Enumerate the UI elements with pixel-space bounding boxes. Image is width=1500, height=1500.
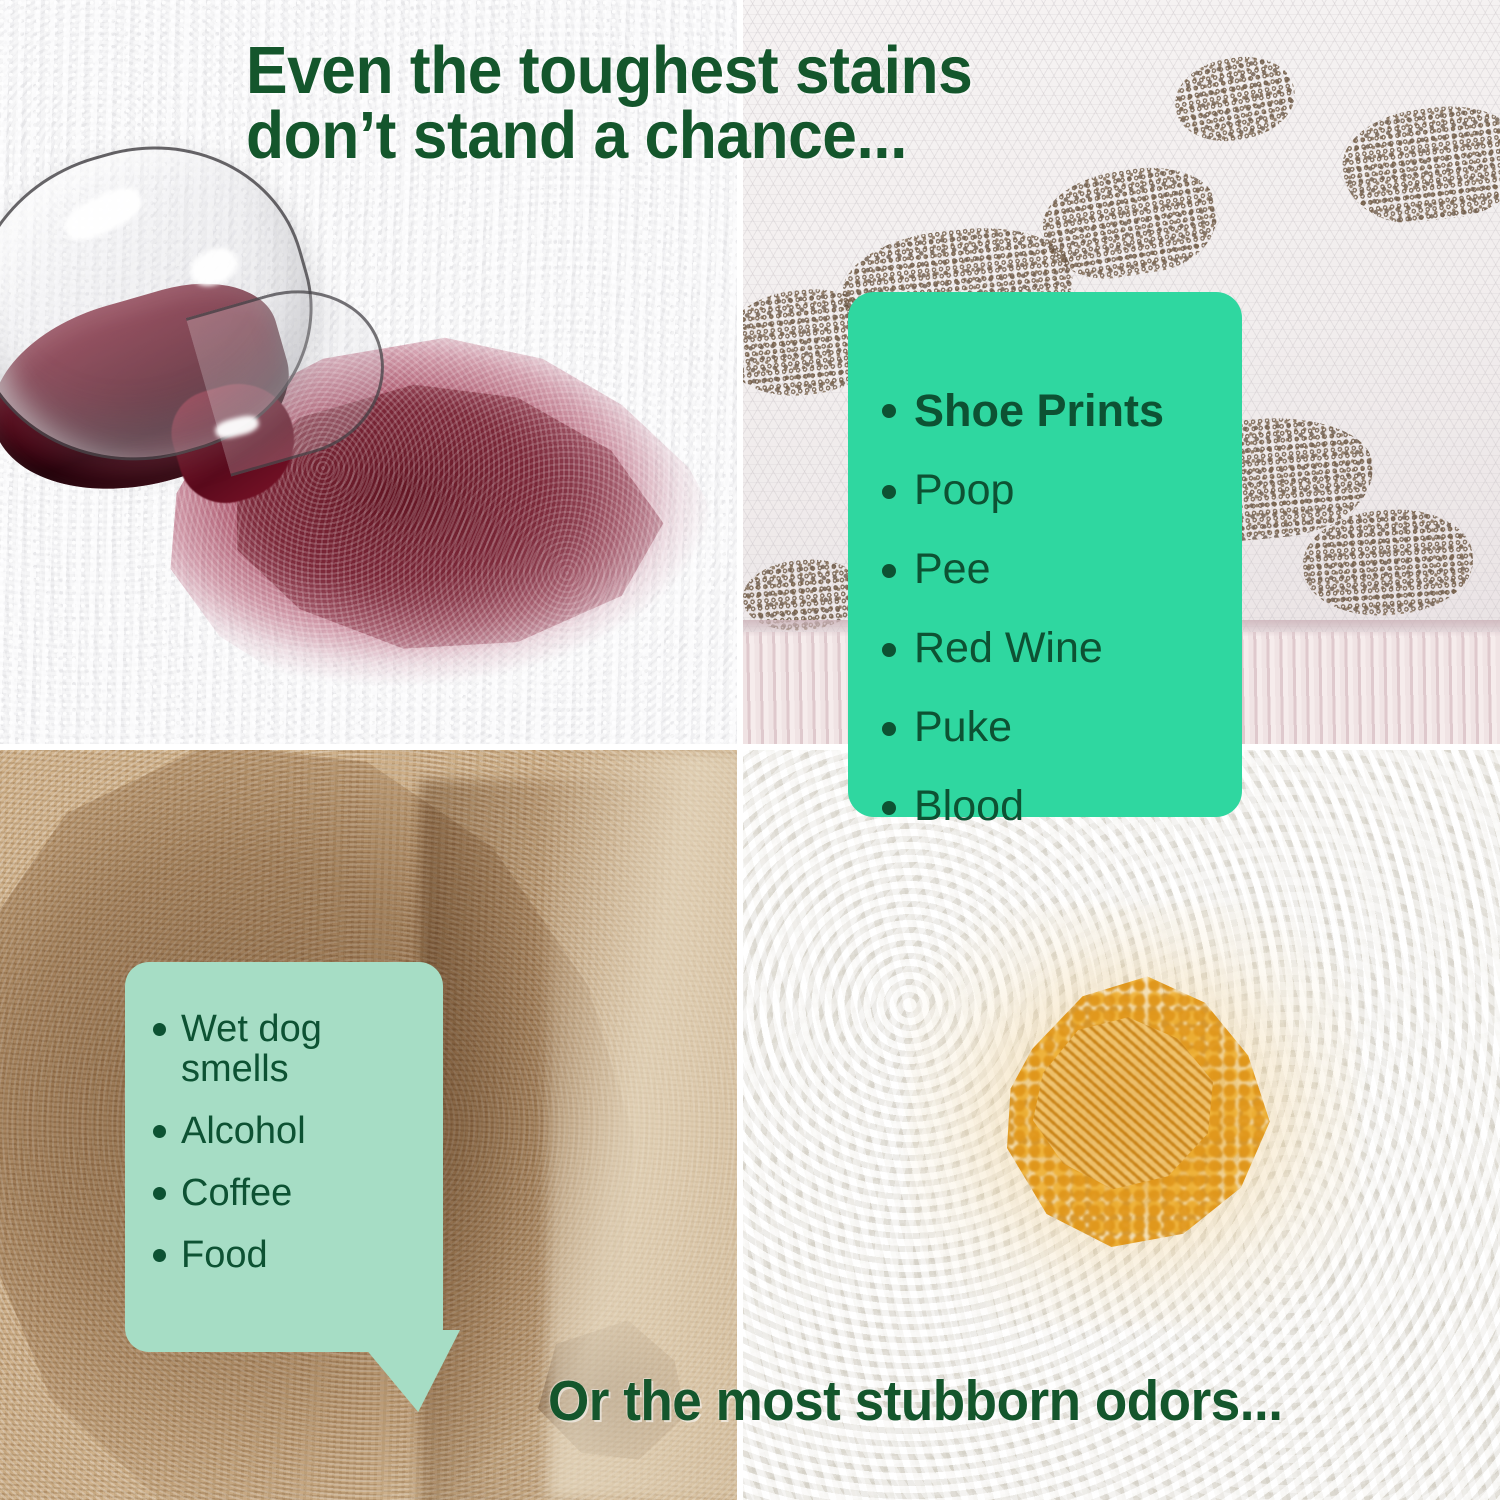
list-item-label: Alcohol [181,1112,306,1152]
headline-top: Even the toughest stains don’t stand a c… [246,38,972,168]
list-item: Blood [882,785,1242,828]
list-item-label: Pee [914,548,991,591]
list-item-label: Poop [914,469,1014,512]
list-item: Red Wine [882,627,1242,670]
headline-bottom: Or the most stubborn odors... [548,1374,1283,1429]
list-item: Coffee [153,1174,403,1214]
stain-list: Shoe Prints Poop Pee Red Wine Puke Blood [848,292,1242,828]
list-item-label: Blood [914,785,1024,828]
list-item-label: Shoe Prints [914,388,1164,433]
speech-bubble-odors: Wet dog smells Alcohol Coffee Food [125,962,443,1352]
bullet-icon [882,643,896,657]
list-item: Puke [882,706,1242,749]
list-item-label: Food [181,1236,268,1276]
list-item: Poop [882,469,1242,512]
bullet-icon [882,564,896,578]
list-item: Shoe Prints [882,388,1242,433]
infographic-canvas: Even the toughest stains don’t stand a c… [0,0,1500,1500]
list-item-label: Red Wine [914,627,1103,670]
list-item-label: Puke [914,706,1012,749]
bullet-icon [153,1023,166,1036]
speech-bubble-stains: Shoe Prints Poop Pee Red Wine Puke Blood [848,292,1242,817]
bullet-icon [153,1249,166,1262]
bullet-icon [882,485,896,499]
odor-list: Wet dog smells Alcohol Coffee Food [125,962,443,1275]
list-item: Alcohol [153,1112,403,1152]
bullet-icon [882,404,896,418]
list-item-label: Coffee [181,1174,292,1214]
list-item-label: Wet dog smells [181,1010,403,1090]
bullet-icon [882,722,896,736]
list-item: Food [153,1236,403,1276]
bullet-icon [882,801,896,815]
list-item: Wet dog smells [153,1010,403,1090]
bullet-icon [153,1125,166,1138]
list-item: Pee [882,548,1242,591]
bullet-icon [153,1187,166,1200]
